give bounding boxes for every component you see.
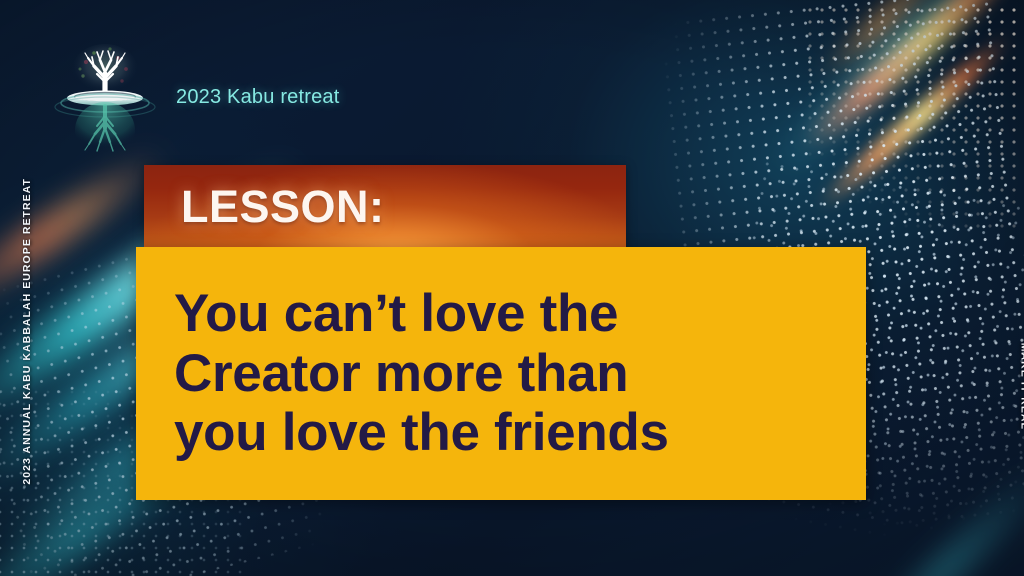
event-title-label: 2023 Kabu retreat: [176, 86, 340, 109]
presentation-slide: 2023 Kabu retreat 2023 ANNUAL KABU KABBA…: [0, 0, 1024, 576]
tree-of-life-logo-icon: [50, 36, 160, 158]
vertical-event-label-left: 2023 ANNUAL KABU KABBALAH EUROPE RETREAT: [21, 178, 33, 485]
vertical-tagline-label-right: MAKE IT REAL: [1018, 343, 1024, 430]
quote-line: you love the friends: [174, 403, 866, 463]
quote-callout-box: You can’t love the Creator more than you…: [136, 247, 866, 500]
quote-line: Creator more than: [174, 344, 866, 404]
quote-line: You can’t love the: [174, 284, 866, 344]
lesson-heading: LESSON:: [181, 184, 385, 229]
lesson-banner: LESSON:: [144, 165, 626, 248]
